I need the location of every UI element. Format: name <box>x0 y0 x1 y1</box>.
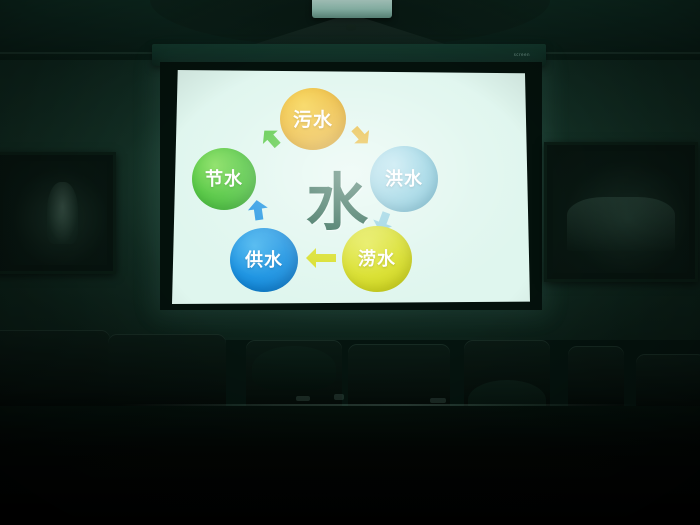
node-flood-label: 洪水 <box>385 165 423 191</box>
wall-picture-right-art <box>553 151 689 273</box>
wall-picture-right <box>544 142 698 282</box>
desk-microphone <box>296 396 310 401</box>
projector-lens-icon <box>346 24 356 31</box>
chair <box>108 334 226 414</box>
node-conserve[interactable]: 节水 <box>192 148 256 210</box>
node-wastewater-label: 污水 <box>293 105 333 132</box>
wall-picture-left <box>0 152 116 274</box>
foreground-furniture <box>0 318 700 525</box>
projection-screen-surface: 水 污水 节水 洪水 供水 涝水 <box>172 70 530 304</box>
node-supply[interactable]: 供水 <box>230 228 298 292</box>
conference-room-photo: screen <box>0 0 700 525</box>
wall-picture-right-subject <box>567 197 676 251</box>
desk-microphone <box>334 394 344 400</box>
node-flood[interactable]: 洪水 <box>370 146 438 212</box>
wall-picture-left-subject <box>47 182 78 244</box>
chair-headrest <box>252 346 336 390</box>
desk-microphone <box>430 398 446 403</box>
ceiling-projector <box>312 0 392 18</box>
node-conserve-label: 节水 <box>205 165 243 191</box>
node-waterlog-label: 涝水 <box>358 245 396 271</box>
node-wastewater[interactable]: 污水 <box>280 88 346 150</box>
conference-table <box>0 406 700 525</box>
center-character-glyph: 水 <box>306 152 368 242</box>
center-character: 水 <box>292 158 382 236</box>
table-edge-highlight <box>120 404 640 406</box>
chair <box>0 330 110 414</box>
slide-canvas: 水 污水 节水 洪水 供水 涝水 <box>172 70 530 304</box>
node-supply-label: 供水 <box>245 246 283 272</box>
node-waterlog[interactable]: 涝水 <box>342 226 412 292</box>
valance-brand-label: screen <box>514 52 530 57</box>
wall-picture-left-art <box>3 161 107 265</box>
